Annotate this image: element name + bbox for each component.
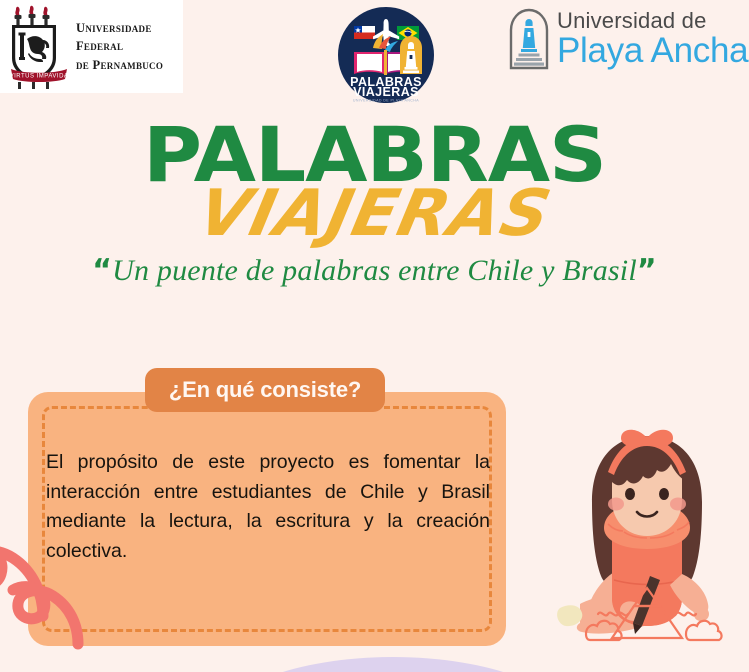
chile-flag-icon [354,26,375,39]
upla-wordmark: Universidad de Playa Ancha [557,10,748,68]
ufpe-ribbon-motto: VIRTUS IMPAVIDA [10,73,69,79]
palabras-viajeras-logo: PALABRAS VIAJERAS UNIVERSIDAD DE PLAYA A… [337,6,435,104]
upla-line-2: Playa Ancha [557,33,748,68]
title-block: PALABRAS VIAJERAS “Un puente de palabras… [0,120,749,288]
tagline-text: Un puente de palabras entre Chile y Bras… [112,254,637,287]
tagline: “Un puente de palabras entre Chile y Bra… [0,253,749,288]
section-badge-label: ¿En qué consiste? [169,377,361,403]
ufpe-line-2: Federal [76,37,163,55]
central-logo-name-line2: VIAJERAS [353,85,419,99]
quote-close: ” [637,253,657,288]
lighthouse-icon [508,8,550,70]
ufpe-logo-wordmark: Universidade Federal de Pernambuco [76,19,163,73]
girl-drawing-illustration-icon [552,424,742,672]
poster-canvas: VIRTUS IMPAVIDA Universidade Federal de … [0,0,749,672]
section-badge: ¿En qué consiste? [145,368,385,412]
palabras-viajeras-badge-icon: PALABRAS VIAJERAS UNIVERSIDAD DE PLAYA A… [337,6,435,104]
lavender-arc-shape-icon [215,657,571,672]
upla-line-1: Universidad de [557,10,748,32]
page-subtitle-script: VIAJERAS [0,184,749,245]
lighthouse-icon [400,36,422,74]
ufpe-line-3: de Pernambuco [76,56,163,74]
ufpe-line-1: Universidade [76,19,163,37]
ufpe-coat-of-arms-icon: VIRTUS IMPAVIDA [8,5,70,89]
ufpe-logo: VIRTUS IMPAVIDA Universidade Federal de … [0,0,183,93]
central-logo-tagline: UNIVERSIDAD DE PLAYA ANCHA [353,99,419,103]
quote-open: “ [92,253,112,288]
curly-squiggle-decoration-icon [0,544,116,660]
upla-logo: Universidad de Playa Ancha [508,4,749,74]
